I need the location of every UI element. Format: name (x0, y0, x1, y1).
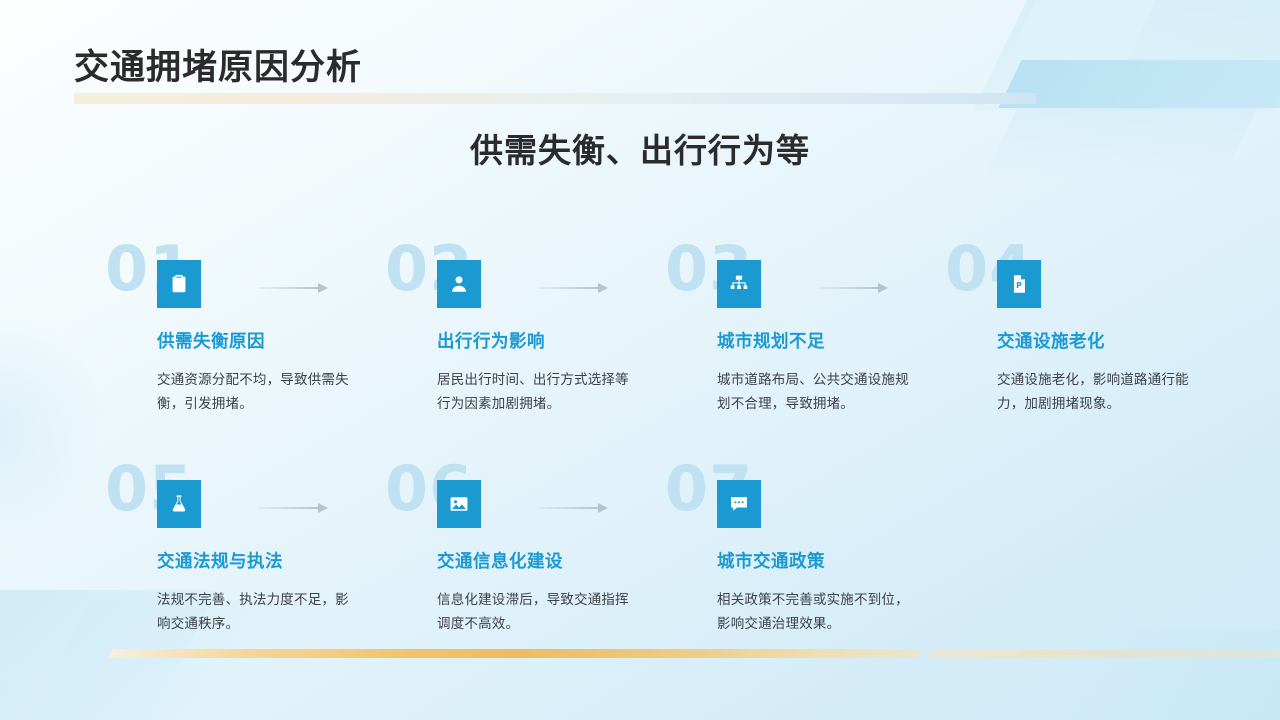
decorative-shape-mid-left (0, 300, 100, 560)
card-title: 城市交通政策 (717, 548, 898, 573)
bottom-gold-stripe-right (928, 649, 1280, 658)
card-body: 交通资源分配不均，导致供需失衡，引发拥堵。 (157, 368, 357, 415)
slide-canvas: 交通拥堵原因分析 供需失衡、出行行为等 01 供需失衡原因 交通资源分配不均，导… (0, 0, 1280, 720)
arrow-connector-3 (818, 283, 894, 293)
card-body: 相关政策不完善或实施不到位，影响交通治理效果。 (717, 588, 917, 635)
page-subtitle: 供需失衡、出行行为等 (0, 124, 1280, 172)
chat-bubble-icon (717, 480, 761, 528)
card-body: 城市道路布局、公共交通设施规划不合理，导致拥堵。 (717, 368, 917, 415)
card-title: 城市规划不足 (717, 328, 898, 353)
svg-text:P: P (1016, 281, 1022, 290)
flask-icon (157, 480, 201, 528)
page-title: 交通拥堵原因分析 (74, 50, 362, 85)
hierarchy-icon (717, 260, 761, 308)
card-04[interactable]: 04 P 交通设施老化 交通设施老化，影响道路通行能力，加剧拥堵现象。 (973, 260, 1178, 415)
clipboard-icon (157, 260, 201, 308)
card-body: 信息化建设滞后，导致交通指挥调度不高效。 (437, 588, 637, 635)
card-07[interactable]: 07 城市交通政策 相关政策不完善或实施不到位，影响交通治理效果。 (693, 480, 898, 635)
image-icon (437, 480, 481, 528)
document-p-icon: P (997, 260, 1041, 308)
card-title: 交通法规与执法 (157, 548, 338, 573)
arrow-connector-1 (258, 283, 334, 293)
decorative-shape-bottom-right (1031, 630, 1280, 720)
decorative-shape-top-right-2 (998, 60, 1280, 108)
card-body: 居民出行时间、出行方式选择等行为因素加剧拥堵。 (437, 368, 637, 415)
card-title: 交通设施老化 (997, 328, 1178, 353)
user-icon (437, 260, 481, 308)
arrow-connector-5 (538, 503, 614, 513)
arrow-connector-4 (258, 503, 334, 513)
card-body: 交通设施老化，影响道路通行能力，加剧拥堵现象。 (997, 368, 1197, 415)
title-underline-bar (74, 93, 1036, 104)
title-block: 交通拥堵原因分析 (74, 50, 362, 85)
card-title: 出行行为影响 (437, 328, 618, 353)
card-body: 法规不完善、执法力度不足，影响交通秩序。 (157, 588, 357, 635)
bottom-gold-stripe-left (108, 649, 922, 658)
card-title: 交通信息化建设 (437, 548, 618, 573)
arrow-connector-2 (538, 283, 614, 293)
card-title: 供需失衡原因 (157, 328, 338, 353)
